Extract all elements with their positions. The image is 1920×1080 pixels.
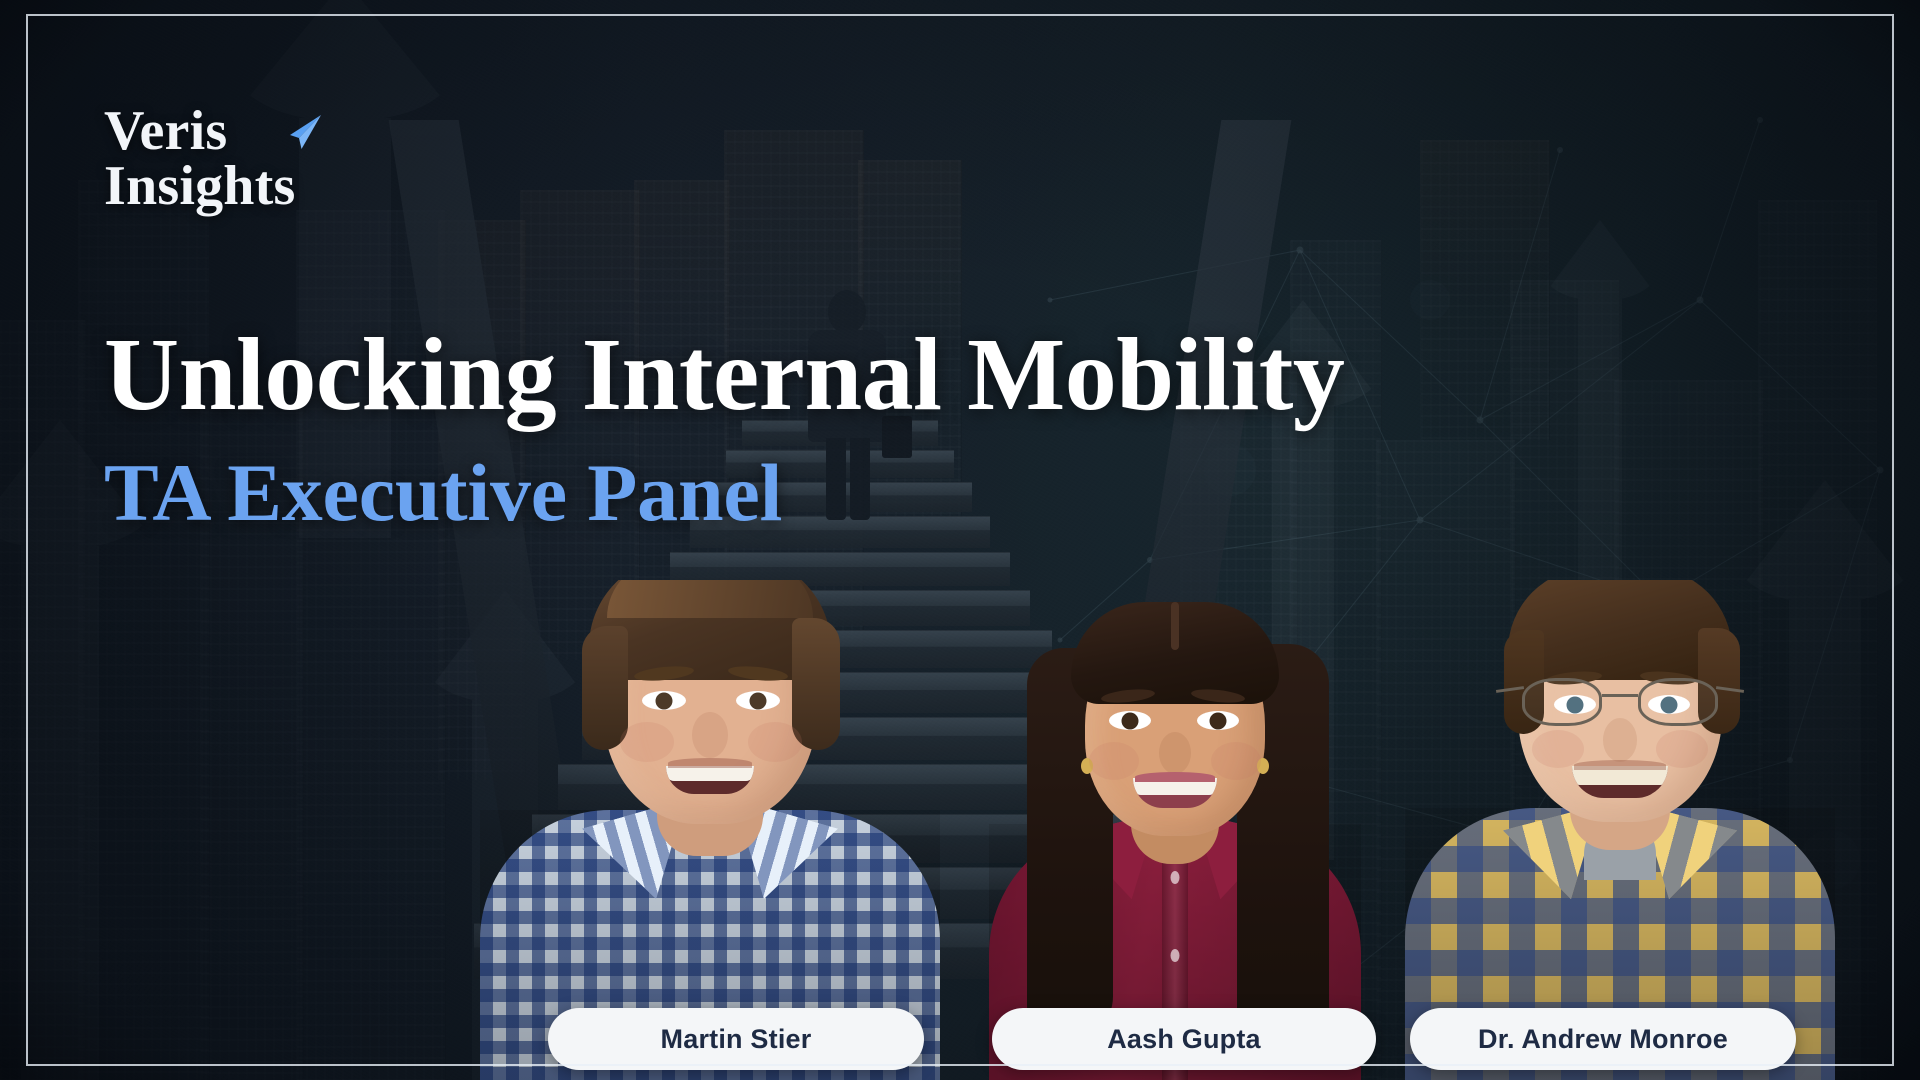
veris-insights-logo[interactable]: Veris Insights	[104, 104, 295, 214]
page-title: Unlocking Internal Mobility	[104, 322, 1664, 428]
nose	[1159, 732, 1191, 774]
panelist-name-2: Dr. Andrew Monroe	[1478, 1024, 1728, 1055]
panelist-photo-martin-stier	[470, 580, 950, 1080]
eye-left	[642, 691, 686, 710]
nose	[692, 712, 728, 758]
name-plate-aash-gupta[interactable]: Aash Gupta	[992, 1008, 1376, 1070]
panelist-name-0: Martin Stier	[661, 1024, 812, 1055]
panelist-martin-stier	[470, 580, 950, 1080]
hair-part	[1171, 602, 1179, 650]
name-plate-dr-andrew-monroe[interactable]: Dr. Andrew Monroe	[1410, 1008, 1796, 1070]
panelist-name-1: Aash Gupta	[1107, 1024, 1261, 1055]
name-plate-martin-stier[interactable]: Martin Stier	[548, 1008, 924, 1070]
hair-side-right	[792, 618, 840, 750]
eye-right	[736, 691, 780, 710]
nose	[1603, 718, 1637, 762]
logo-text-line2: Insights	[104, 159, 295, 214]
panelist-photo-dr-andrew-monroe	[1400, 580, 1840, 1080]
paper-plane-icon	[280, 112, 326, 156]
hair-sweep	[607, 580, 813, 618]
headline-block: Unlocking Internal Mobility TA Executive…	[104, 322, 1664, 535]
eye-right	[1197, 711, 1239, 730]
presentation-slide: Veris Insights Unlocking Internal Mobili…	[0, 0, 1920, 1080]
hair-side-left	[582, 626, 628, 750]
logo-text-line1: Veris	[104, 104, 295, 159]
eye-left	[1109, 711, 1151, 730]
panelist-dr-andrew-monroe	[1400, 580, 1840, 1080]
page-subtitle: TA Executive Panel	[104, 450, 1664, 535]
